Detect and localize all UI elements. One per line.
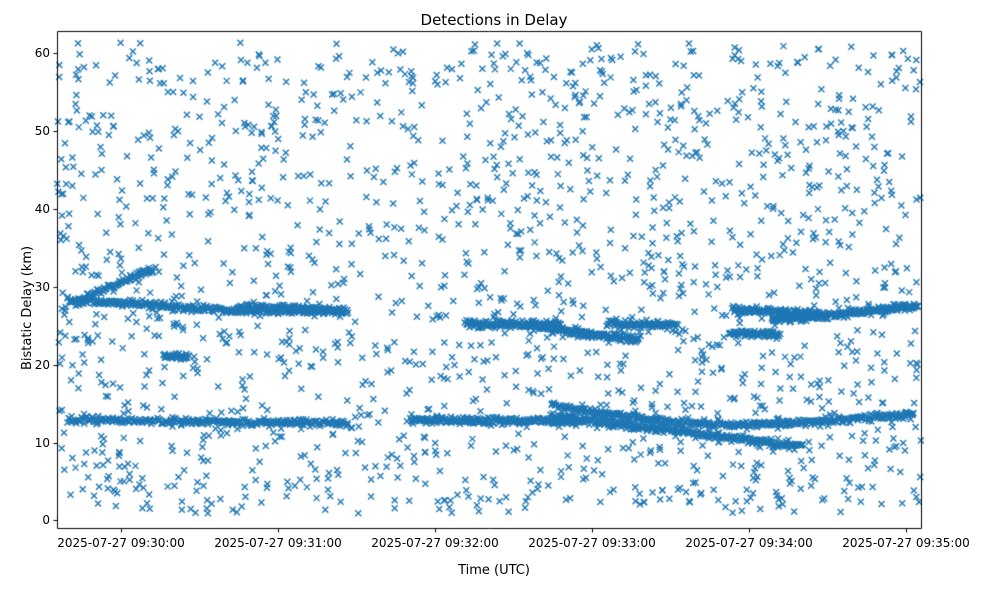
x-tick-label: 2025-07-27 09:31:00 [214, 536, 341, 550]
y-tick-label: 20 [35, 358, 50, 372]
x-tick-label: 2025-07-27 09:35:00 [842, 536, 969, 550]
y-tick-label: 60 [35, 46, 50, 60]
x-tick-label: 2025-07-27 09:30:00 [57, 536, 184, 550]
y-tick-label: 50 [35, 124, 50, 138]
y-tick-label: 30 [35, 280, 50, 294]
x-tick-label: 2025-07-27 09:34:00 [685, 536, 812, 550]
y-tick-label: 10 [35, 436, 50, 450]
scatter-plot-canvas [0, 0, 988, 590]
y-tick-label-group: 0102030405060 [0, 0, 50, 590]
y-tick-label: 40 [35, 202, 50, 216]
x-tick-label: 2025-07-27 09:33:00 [528, 536, 655, 550]
matplotlib-figure: Detections in Delay Time (UTC) Bistatic … [0, 0, 988, 590]
x-tick-label: 2025-07-27 09:32:00 [371, 536, 498, 550]
y-tick-label: 0 [42, 513, 50, 527]
